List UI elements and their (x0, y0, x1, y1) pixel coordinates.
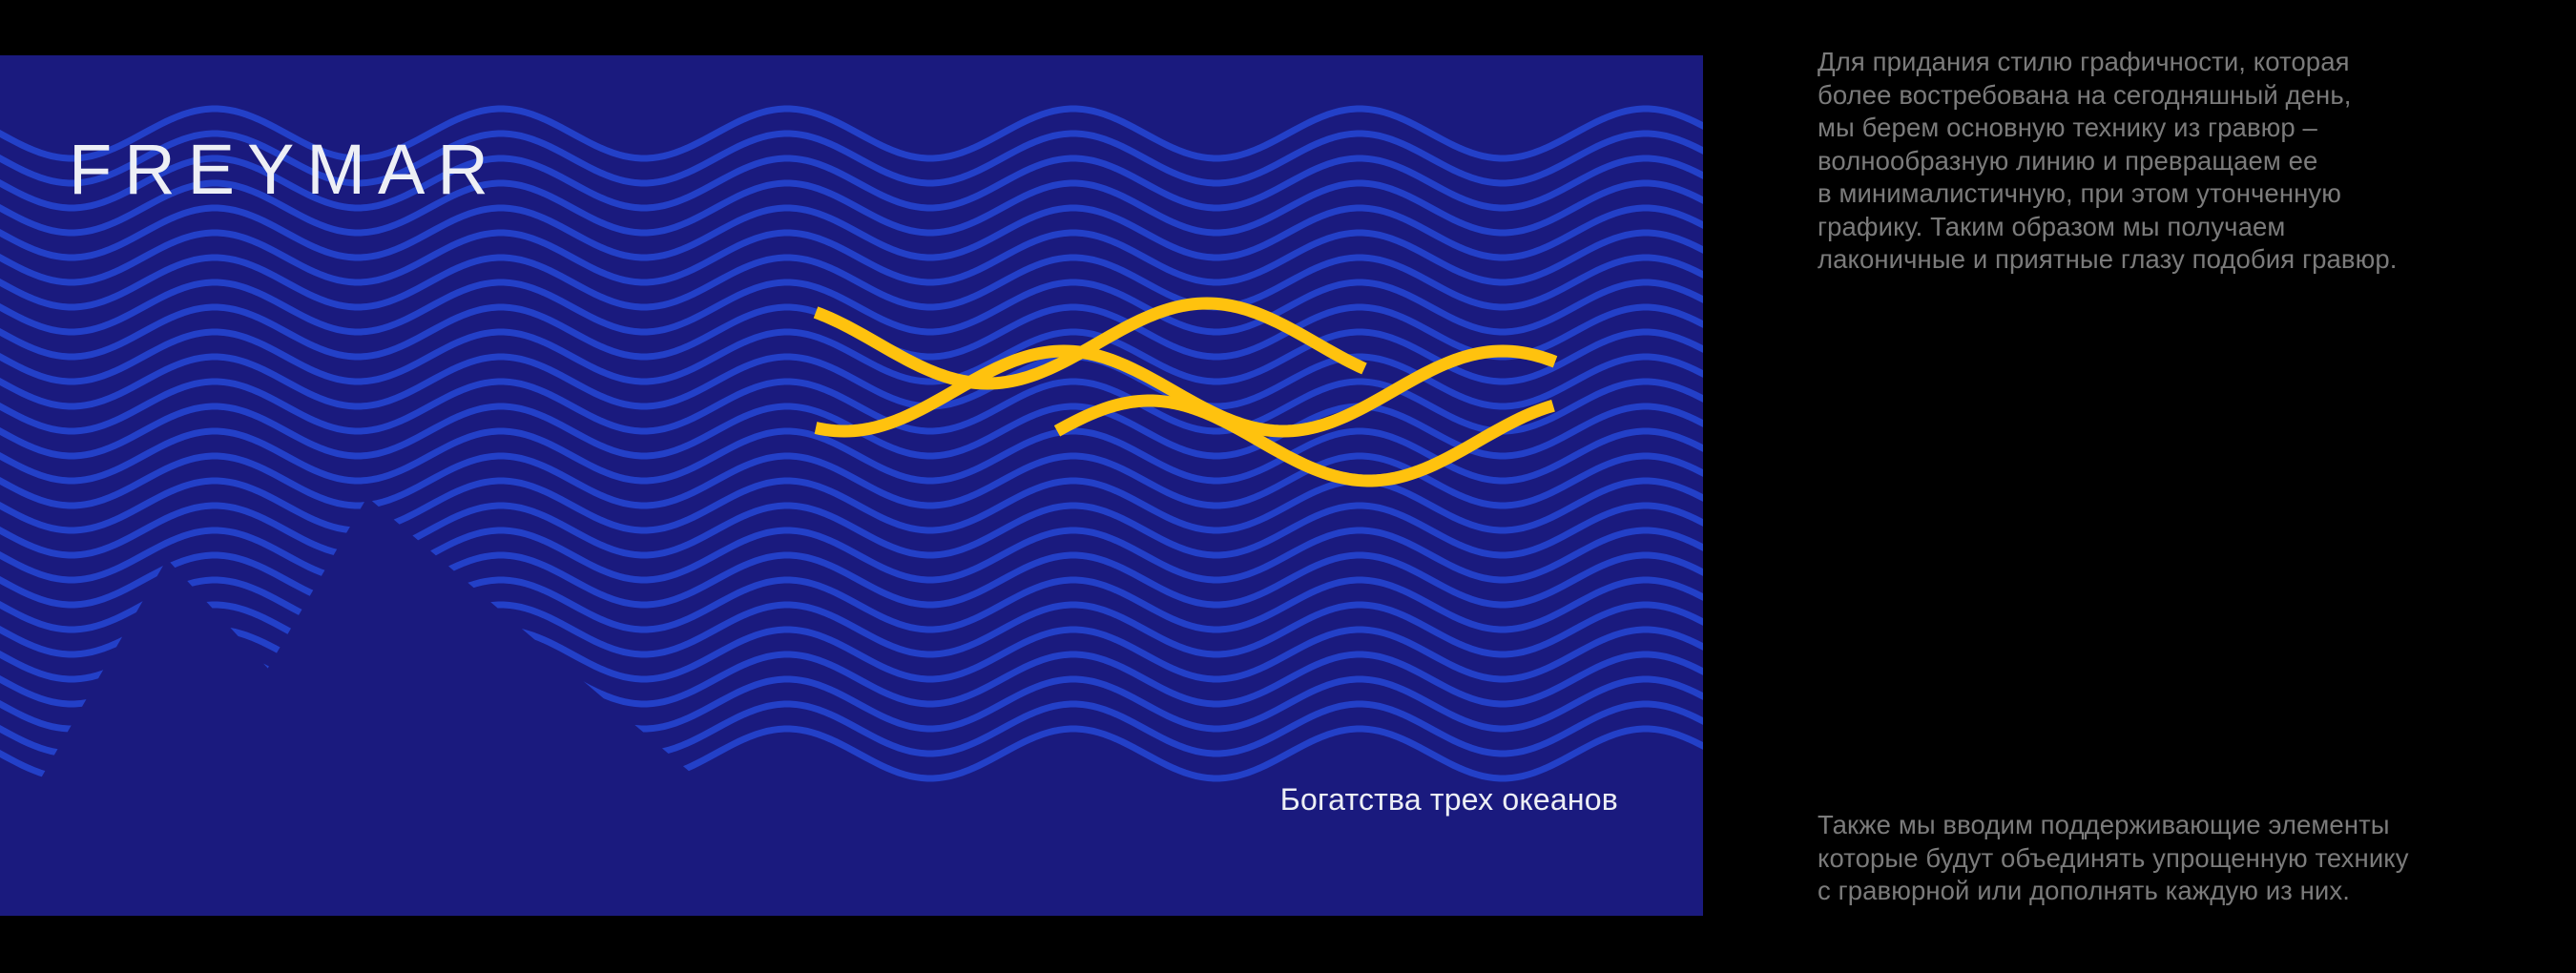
annotation-paragraph-top: Для придания стилю графичности, которая … (1818, 46, 2543, 277)
annotation-paragraph-bottom: Также мы вводим поддерживающие элементы … (1818, 809, 2571, 908)
canvas: FREYMAR Богатства трех океанов Для прида… (0, 0, 2576, 973)
poster-caption: Богатства трех океанов (1280, 782, 1618, 818)
brand-wordmark: FREYMAR (69, 135, 501, 205)
poster-artboard: FREYMAR Богатства трех океанов (0, 55, 1703, 916)
